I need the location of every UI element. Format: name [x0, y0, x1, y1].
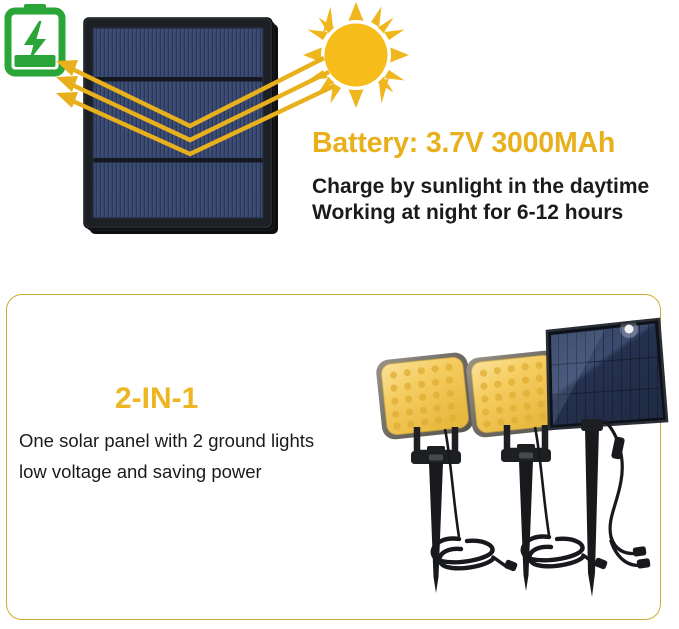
two-in-one-line-2: low voltage and saving power	[19, 456, 379, 488]
infographic-canvas: Battery: 3.7V 3000MAh Charge by sunlight…	[0, 0, 679, 629]
two-in-one-line-1: One solar panel with 2 ground lights	[19, 425, 379, 457]
battery-section: Battery: 3.7V 3000MAh Charge by sunlight…	[0, 0, 679, 280]
solar-panel-stake	[547, 319, 667, 597]
solar-spotlight-set	[367, 309, 657, 609]
two-in-one-headline: 2-IN-1	[115, 383, 379, 415]
cable-coil-right	[523, 537, 583, 567]
two-in-one-text-block: 2-IN-1 One solar panel with 2 ground lig…	[19, 383, 379, 488]
cable-coil-left	[433, 539, 493, 569]
battery-charging-icon	[4, 3, 66, 75]
battery-text-block: Battery: 3.7V 3000MAh Charge by sunlight…	[312, 128, 678, 227]
battery-headline: Battery: 3.7V 3000MAh	[312, 128, 678, 160]
battery-line-2: Working at night for 6-12 hours	[312, 200, 678, 226]
sun-icon	[303, 2, 409, 108]
two-in-one-section: 2-IN-1 One solar panel with 2 ground lig…	[6, 294, 661, 620]
battery-line-1: Charge by sunlight in the daytime	[312, 174, 678, 200]
solar-panel-icon	[84, 18, 280, 236]
